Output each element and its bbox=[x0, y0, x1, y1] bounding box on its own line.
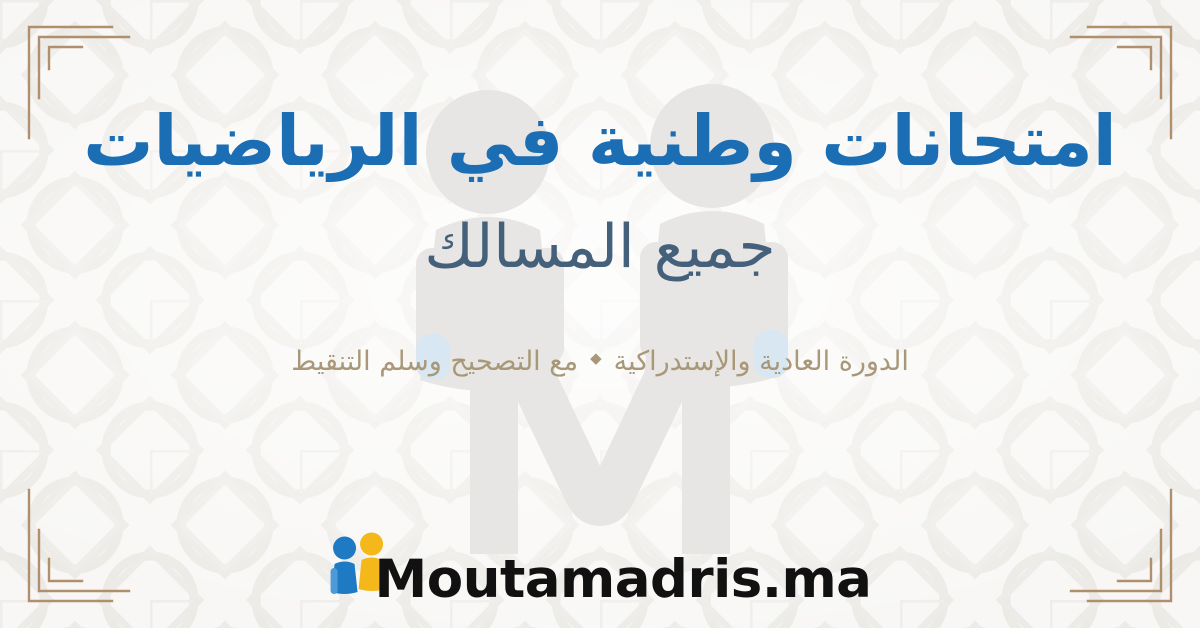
brand-lockup[interactable]: Moutamadris.ma bbox=[329, 532, 872, 610]
tagline-right-part: الدورة العادية والإستدراكية bbox=[614, 344, 909, 379]
exam-banner: امتحانات وطنية في الرياضيات جميع المسالك… bbox=[0, 0, 1200, 628]
tagline-separator-icon: ◆ bbox=[590, 349, 602, 369]
page-title: امتحانات وطنية في الرياضيات bbox=[83, 104, 1117, 180]
tagline-left-part: مع التصحيح وسلم التنقيط bbox=[291, 344, 578, 379]
tagline: الدورة العادية والإستدراكية ◆ مع التصحيح… bbox=[291, 344, 909, 379]
page-subtitle: جميع المسالك bbox=[424, 214, 775, 280]
brand-name: Moutamadris.ma bbox=[375, 553, 872, 610]
